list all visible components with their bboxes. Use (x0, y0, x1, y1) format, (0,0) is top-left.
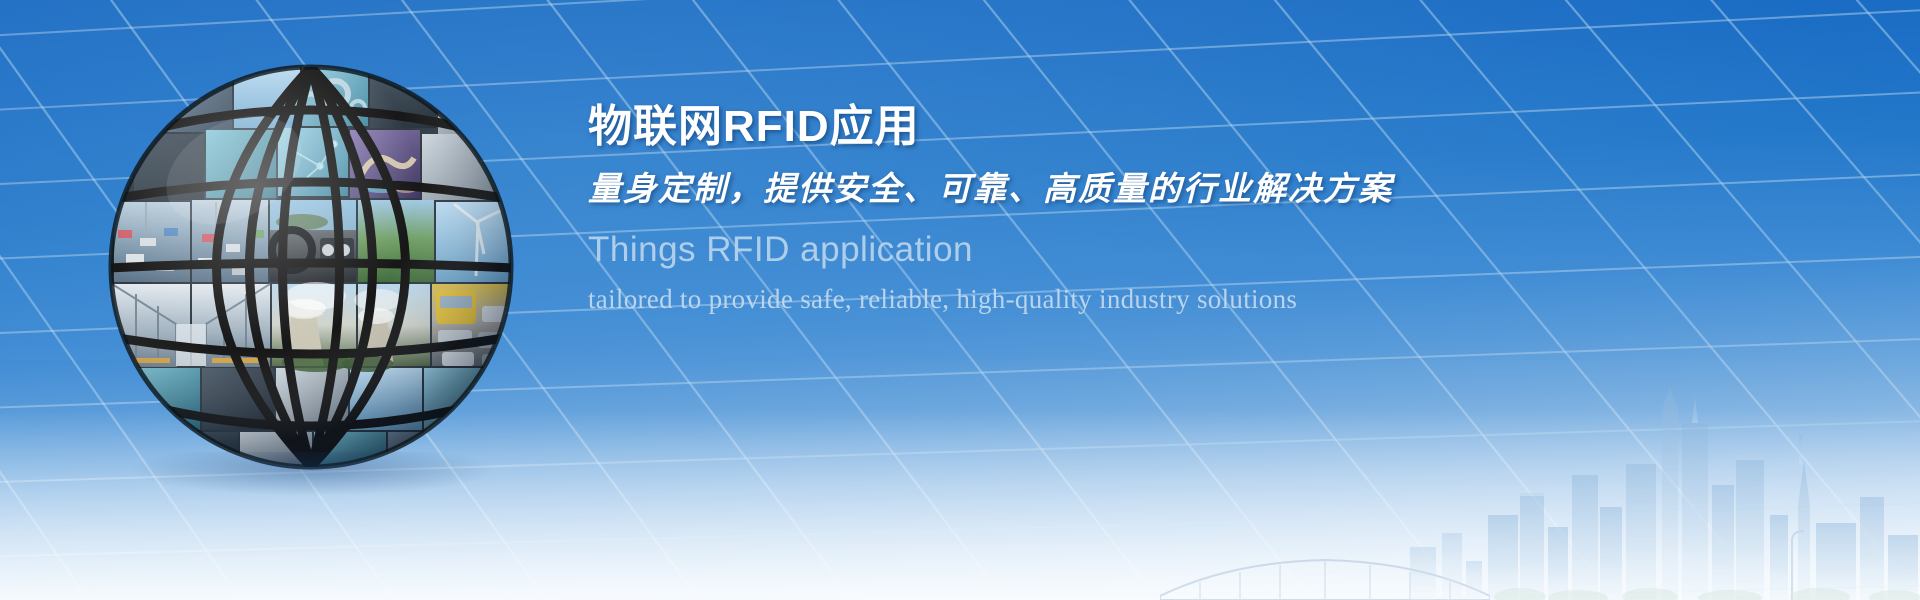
banner-copy: 物联网RFID应用 量身定制，提供安全、可靠、高质量的行业解决方案 Things… (588, 98, 1538, 318)
banner-headline-en: Things RFID application (588, 228, 1538, 272)
banner-subhead-en: tailored to provide safe, reliable, high… (588, 280, 1538, 318)
mosaic-globe-icon (106, 62, 516, 472)
bridge-silhouette (1160, 556, 1490, 600)
banner-headline-cn: 物联网RFID应用 (588, 98, 1538, 156)
hero-banner: 物联网RFID应用 量身定制，提供安全、可靠、高质量的行业解决方案 Things… (0, 0, 1920, 600)
banner-subhead-cn: 量身定制，提供安全、可靠、高质量的行业解决方案 (588, 166, 1538, 212)
city-skyline-icon (1400, 365, 1920, 600)
